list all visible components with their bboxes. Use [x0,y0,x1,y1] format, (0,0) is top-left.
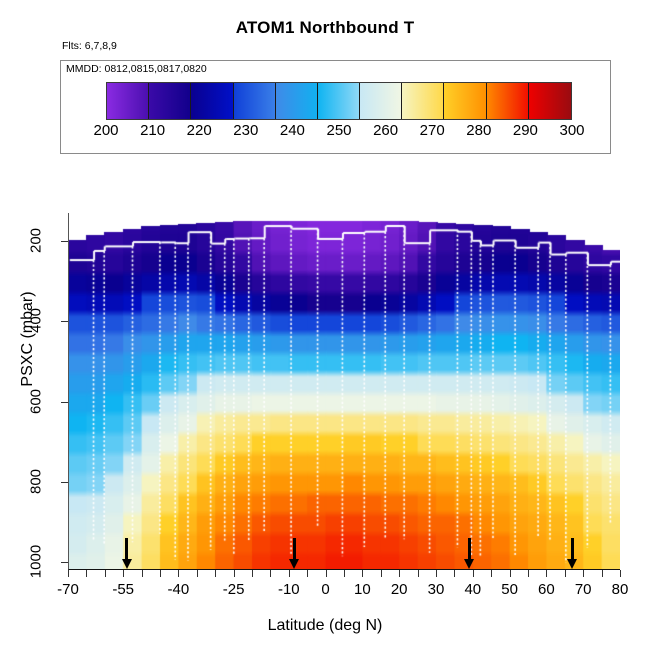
x-axis-tick [602,570,603,577]
flight-start-arrow [293,538,296,560]
x-axis-tick [68,570,69,577]
x-axis-tick [510,570,511,577]
x-axis-tick [528,570,529,577]
x-axis-tick-label: 60 [538,581,555,598]
x-axis-tick [197,570,198,577]
x-axis-tick-label: 10 [354,581,371,598]
colorbar-segment [234,83,276,119]
flights-annotation: Flts: 6,7,8,9 [62,40,117,52]
x-axis-tick [546,570,547,577]
flight-start-arrow [468,538,471,560]
page-title: ATOM1 Northbound T [0,18,650,38]
x-axis-tick [436,570,437,577]
colorbar-gradient [106,82,572,120]
y-axis-tick [61,321,68,322]
colorbar-segment [191,83,233,119]
colorbar-tick-labels: 200210220230240250260270280290300 [106,122,572,142]
x-axis-tick [399,570,400,577]
colorbar-segment [107,83,149,119]
x-axis-tick [105,570,106,577]
x-axis-tick [565,570,566,577]
x-axis-tick [491,570,492,577]
x-axis-tick [454,570,455,577]
colorbar-tick-label: 200 [93,122,118,139]
colorbar-tick-label: 260 [373,122,398,139]
x-axis-tick [583,570,584,577]
x-axis-label: Latitude (deg N) [0,617,650,635]
y-axis-tick-label: 1000 [28,541,45,581]
x-axis-tick [270,570,271,577]
x-axis-tick [362,570,363,577]
x-axis-tick [142,570,143,577]
colorbar-segment [360,83,402,119]
colorbar-tick-label: 240 [280,122,305,139]
colorbar-segment [444,83,486,119]
mmdd-annotation: MMDD: 0812,0815,0817,0820 [66,63,207,75]
axes-frame [68,213,620,570]
x-axis-tick [326,570,327,577]
colorbar-legend-box: MMDD: 0812,0815,0817,0820 20021022023024… [60,60,611,154]
x-axis-tick-label: -40 [168,581,190,598]
x-axis-tick [160,570,161,577]
x-axis-tick [178,570,179,577]
y-axis-tick [61,482,68,483]
colorbar-segment [318,83,360,119]
x-axis-tick [381,570,382,577]
x-axis-tick-label: -25 [223,581,245,598]
x-axis-tick-label: 20 [391,581,408,598]
x-axis-tick [252,570,253,577]
colorbar-tick-label: 210 [140,122,165,139]
colorbar-segment [276,83,318,119]
colorbar-tick-label: 220 [187,122,212,139]
x-axis-tick-label: -10 [278,581,300,598]
colorbar-segment [487,83,529,119]
x-axis-tick [620,570,621,577]
x-axis-tick [86,570,87,577]
colorbar-tick-label: 250 [326,122,351,139]
flight-start-arrow [125,538,128,560]
x-axis-tick-label: 30 [428,581,445,598]
x-axis-tick [234,570,235,577]
x-axis-tick [473,570,474,577]
x-axis-tick-label: 0 [321,581,329,598]
x-axis-tick [307,570,308,577]
y-axis-tick [61,241,68,242]
x-axis-tick [215,570,216,577]
y-axis-tick [61,562,68,563]
x-axis-tick-label: 40 [464,581,481,598]
y-axis-label: PSXC (mbar) [19,189,37,489]
x-axis-tick-label: -55 [112,581,134,598]
flight-start-arrow [571,538,574,560]
x-axis-tick-label: 50 [501,581,518,598]
x-axis-tick [289,570,290,577]
x-axis-tick-label: -70 [57,581,79,598]
x-axis-tick [418,570,419,577]
colorbar-tick-label: 270 [420,122,445,139]
colorbar-tick-label: 230 [233,122,258,139]
x-axis-tick [344,570,345,577]
colorbar-tick-label: 280 [466,122,491,139]
x-axis-tick-label: 80 [612,581,629,598]
colorbar-segment [529,83,571,119]
colorbar-tick-label: 290 [513,122,538,139]
x-axis-tick [123,570,124,577]
colorbar-tick-label: 300 [559,122,584,139]
colorbar-segment [402,83,444,119]
y-axis-tick [61,402,68,403]
colorbar: 200210220230240250260270280290300 [106,82,572,120]
colorbar-segment [149,83,191,119]
x-axis-tick-label: 70 [575,581,592,598]
